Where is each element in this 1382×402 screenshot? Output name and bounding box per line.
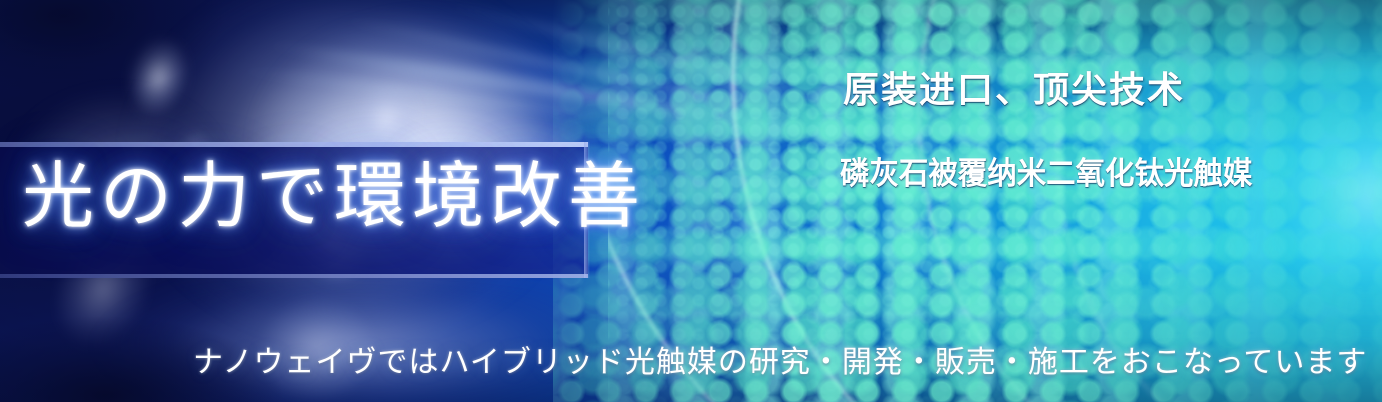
promo-subheadline-chinese: 磷灰石被覆纳米二氧化钛光触媒 bbox=[840, 159, 1252, 190]
speckle-particles-dense bbox=[608, 0, 1327, 402]
tagline-japanese: ナノウェイヴではハイブリッド光触媒の研究・開発・販売・施工をおこなっています bbox=[193, 348, 1367, 378]
hero-banner: 光の力で環境改善 原装进口、顶尖技术 磷灰石被覆纳米二氧化钛光触媒 ナノウェイヴ… bbox=[0, 0, 1382, 402]
headline-japanese: 光の力で環境改善 bbox=[22, 160, 646, 232]
promo-headline-chinese: 原装进口、顶尖技术 bbox=[843, 73, 1185, 109]
